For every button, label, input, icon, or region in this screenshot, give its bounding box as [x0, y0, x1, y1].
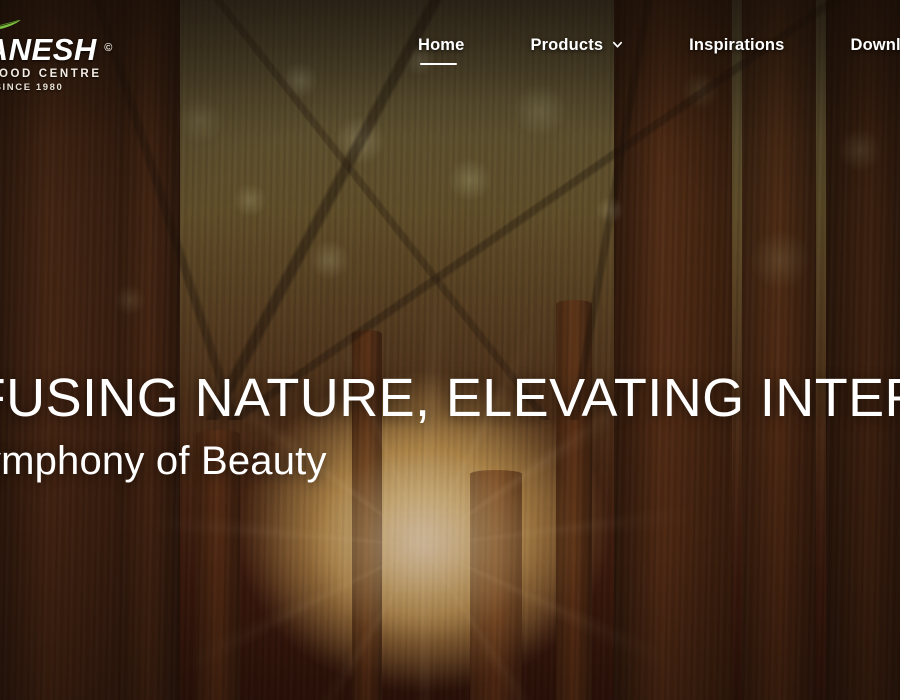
brand-tagline: PLYWOOD CENTRE — [0, 68, 144, 80]
chevron-down-icon[interactable] — [612, 39, 623, 50]
brand-name-text: GANESH — [0, 32, 97, 67]
hero-subtitle: A Symphony of Beauty — [0, 438, 900, 484]
page-root: GANESH © PLYWOOD CENTRE SINCE 1980 Home … — [0, 0, 900, 700]
background-vignette — [0, 0, 900, 700]
nav-label-home: Home — [418, 36, 464, 55]
sun-glow — [0, 0, 900, 700]
nav-item-download[interactable]: Download — [851, 34, 900, 67]
active-nav-underline — [420, 63, 457, 65]
main-navigation: Home Products Inspirations Download Abou… — [418, 34, 900, 67]
hero-section: INFUSING NATURE, ELEVATING INTERIORS A S… — [0, 368, 900, 484]
nav-item-products[interactable]: Products — [530, 34, 623, 67]
leaf-icon — [0, 20, 22, 32]
nav-label-inspirations: Inspirations — [689, 36, 784, 55]
background-color-grade — [0, 0, 900, 700]
hero-background-image — [0, 0, 900, 700]
brand-name-wrap: GANESH © — [0, 34, 97, 66]
brand-mark — [0, 14, 144, 34]
nav-label-download: Download — [851, 36, 900, 55]
background-bark-texture — [0, 0, 900, 700]
sun-rays — [0, 0, 900, 700]
background-canopy-foliage — [0, 0, 900, 700]
hero-title: INFUSING NATURE, ELEVATING INTERIORS — [0, 368, 900, 428]
brand-since: SINCE 1980 — [0, 82, 144, 93]
nav-item-home[interactable]: Home — [418, 34, 464, 67]
brand-logo[interactable]: GANESH © PLYWOOD CENTRE SINCE 1980 — [0, 14, 144, 93]
site-header: GANESH © PLYWOOD CENTRE SINCE 1980 Home … — [0, 0, 900, 96]
nav-label-products: Products — [530, 36, 603, 55]
nav-item-inspirations[interactable]: Inspirations — [689, 34, 784, 67]
background-trunk-group — [0, 0, 900, 700]
copyright-icon: © — [104, 32, 113, 64]
